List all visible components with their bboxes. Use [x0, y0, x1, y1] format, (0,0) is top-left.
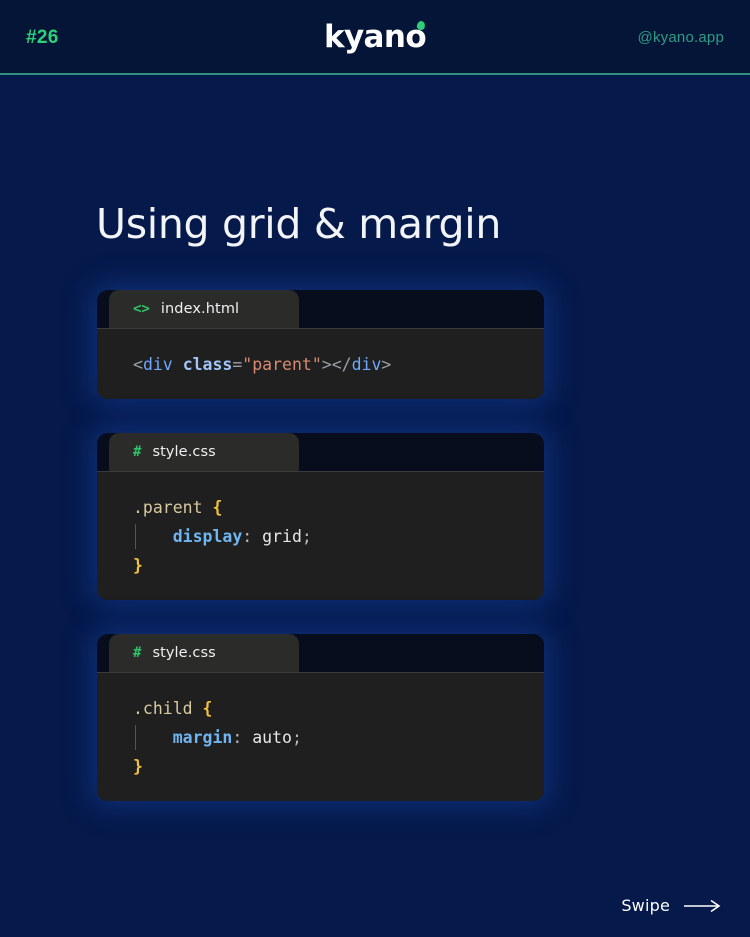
indent-guide — [135, 524, 136, 549]
code-body: <div class="parent"></div> — [97, 328, 544, 399]
logo-wrap: kyano — [324, 22, 426, 53]
code-token: } — [133, 757, 143, 776]
code-token: ; — [292, 728, 302, 747]
code-token: = — [232, 355, 242, 374]
code-line: display: grid; — [97, 522, 544, 551]
brand-handle: @kyano.app — [534, 29, 724, 46]
hash-icon: # — [133, 445, 141, 459]
slide-body: Using grid & margin <> index.html <div c… — [0, 75, 750, 937]
editor-tab-active[interactable]: # style.css — [109, 433, 299, 471]
editor-tab-active[interactable]: # style.css — [109, 634, 299, 672]
slide-number: #26 — [26, 27, 216, 49]
code-token: ; — [302, 527, 312, 546]
code-body: .parent { display: grid; } — [97, 471, 544, 600]
swipe-label: Swipe — [621, 896, 670, 915]
code-line: } — [97, 752, 544, 781]
code-line: <div class="parent"></div> — [97, 350, 544, 379]
code-token: div — [352, 355, 382, 374]
code-token: { — [203, 699, 213, 718]
code-line: } — [97, 551, 544, 580]
code-line: margin: auto; — [97, 723, 544, 752]
code-token — [193, 699, 203, 718]
slide-root: #26 kyano @kyano.app Using grid & margin… — [0, 0, 750, 937]
code-token: : — [232, 728, 252, 747]
slide-header: #26 kyano @kyano.app — [0, 0, 750, 75]
code-card: # style.css .child { margin: auto; } — [97, 634, 544, 801]
code-token: grid — [262, 527, 302, 546]
editor-tab-label: style.css — [152, 444, 215, 460]
code-token: : — [242, 527, 262, 546]
code-token — [133, 728, 173, 747]
code-token: display — [173, 527, 243, 546]
brand-logo: kyano — [216, 22, 534, 53]
code-token: < — [133, 355, 143, 374]
editor-tabstrip: <> index.html — [97, 290, 544, 328]
code-card: <> index.html <div class="parent"></div> — [97, 290, 544, 399]
code-token: } — [133, 556, 143, 575]
code-brackets-icon: <> — [133, 302, 150, 316]
code-token: margin — [173, 728, 233, 747]
code-token: class — [183, 355, 233, 374]
page-title: Using grid & margin — [96, 200, 501, 248]
editor-tab-label: style.css — [152, 645, 215, 661]
hash-icon: # — [133, 646, 141, 660]
swipe-hint[interactable]: Swipe — [621, 896, 724, 915]
code-token: > — [381, 355, 391, 374]
code-token — [173, 355, 183, 374]
editor-tabstrip: # style.css — [97, 433, 544, 471]
code-token: </ — [332, 355, 352, 374]
code-token: > — [322, 355, 332, 374]
code-card-list: <> index.html <div class="parent"></div>… — [97, 290, 544, 801]
editor-tab-active[interactable]: <> index.html — [109, 290, 299, 328]
code-line: .child { — [97, 694, 544, 723]
code-token — [203, 498, 213, 517]
arrow-right-icon — [684, 899, 724, 913]
code-line: .parent { — [97, 493, 544, 522]
logo-text: kyano — [324, 19, 426, 55]
code-token: .parent — [133, 498, 203, 517]
code-token: { — [212, 498, 222, 517]
code-token: auto — [252, 728, 292, 747]
editor-tabstrip: # style.css — [97, 634, 544, 672]
code-card: # style.css .parent { display: grid; } — [97, 433, 544, 600]
code-token: "parent" — [242, 355, 321, 374]
code-token: div — [143, 355, 173, 374]
editor-tab-label: index.html — [161, 301, 239, 317]
code-token: .child — [133, 699, 193, 718]
code-token — [133, 527, 173, 546]
indent-guide — [135, 725, 136, 750]
code-body: .child { margin: auto; } — [97, 672, 544, 801]
